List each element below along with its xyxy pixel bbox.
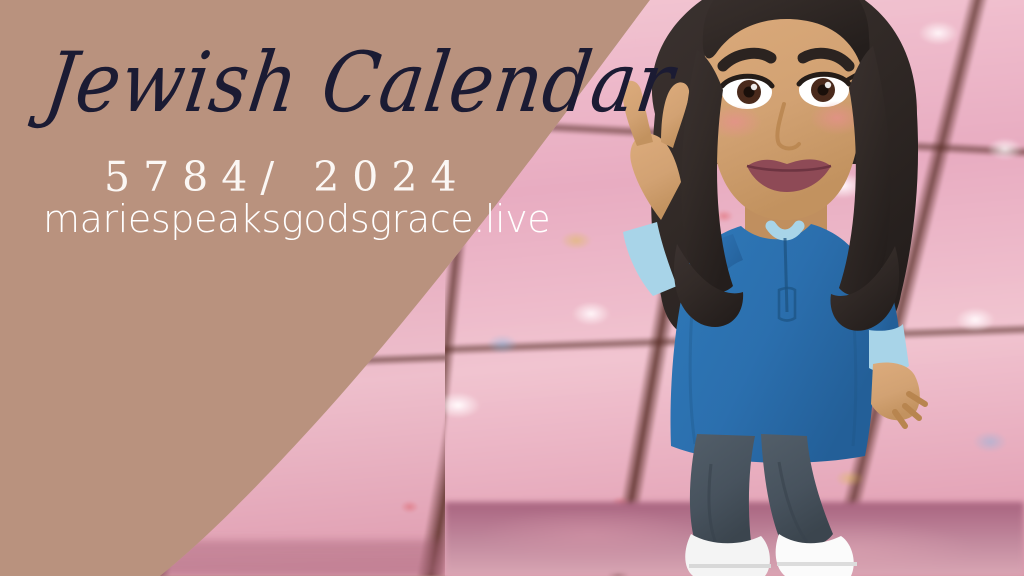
- year-subtitle: 5784/ 2024: [104, 153, 470, 201]
- title-card-canvas: Jewish Calendar 5784/ 2024 mariespeaksgo…: [0, 0, 1024, 576]
- ground-blur-left: [0, 540, 445, 576]
- page-title: Jewish Calendar: [40, 42, 592, 125]
- eye-left: [722, 75, 772, 109]
- site-url-label: mariespeaksgodsgrace.live: [43, 197, 550, 241]
